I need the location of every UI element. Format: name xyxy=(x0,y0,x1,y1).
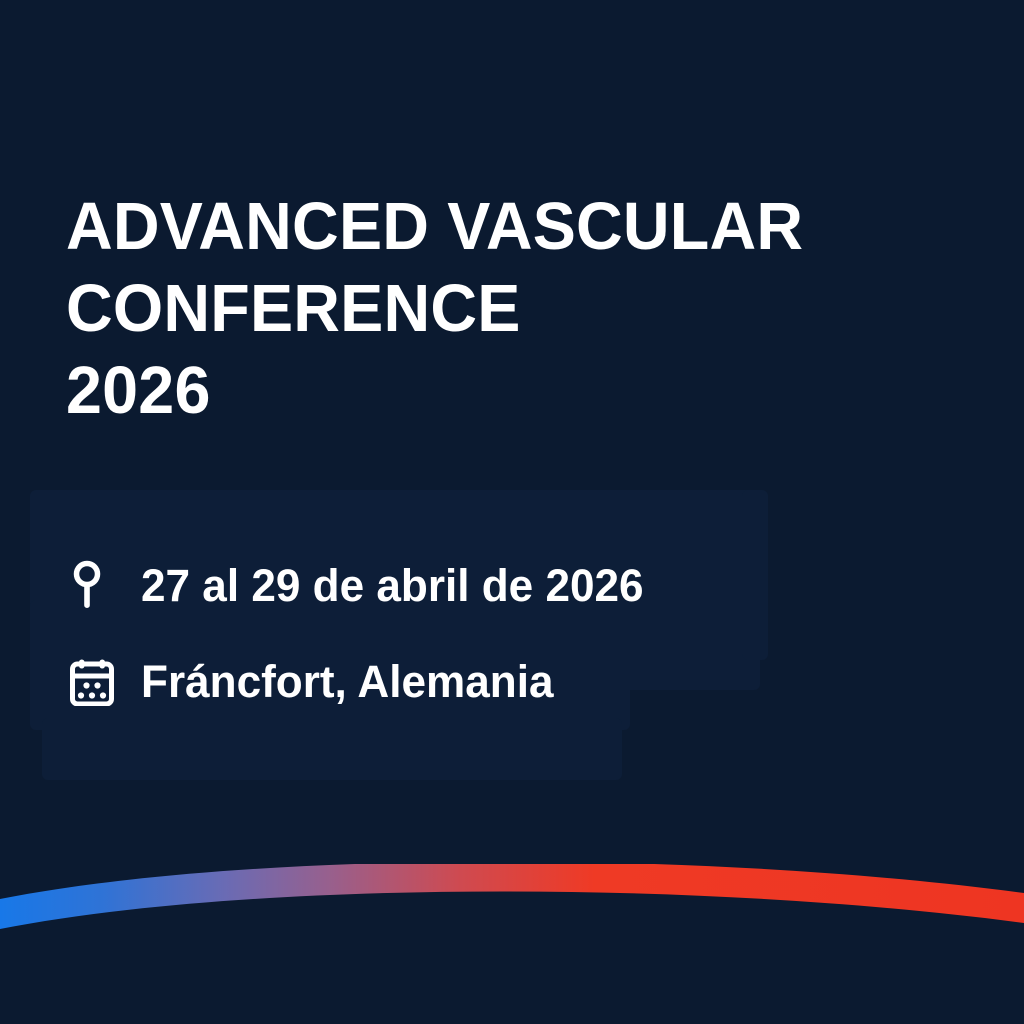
event-details-list: 27 al 29 de abril de 2026 Fráncfort, Ale… xyxy=(70,538,890,730)
map-pin-icon xyxy=(70,559,118,613)
title-line-2: CONFERENCE xyxy=(66,268,935,350)
event-date-text: 27 al 29 de abril de 2026 xyxy=(141,561,644,611)
calendar-icon xyxy=(70,655,118,709)
event-detail-location: Fráncfort, Alemania xyxy=(70,634,890,730)
title-line-1: ADVANCED VASCULAR xyxy=(66,186,935,268)
page-title: ADVANCED VASCULAR CONFERENCE 2026 xyxy=(66,186,966,432)
event-location-text: Fráncfort, Alemania xyxy=(141,657,554,707)
event-poster: ADVANCED VASCULAR CONFERENCE 2026 27 al … xyxy=(0,0,1024,1024)
decorative-wave xyxy=(0,864,1024,1024)
event-detail-date: 27 al 29 de abril de 2026 xyxy=(70,538,890,634)
title-line-3: 2026 xyxy=(66,350,935,432)
